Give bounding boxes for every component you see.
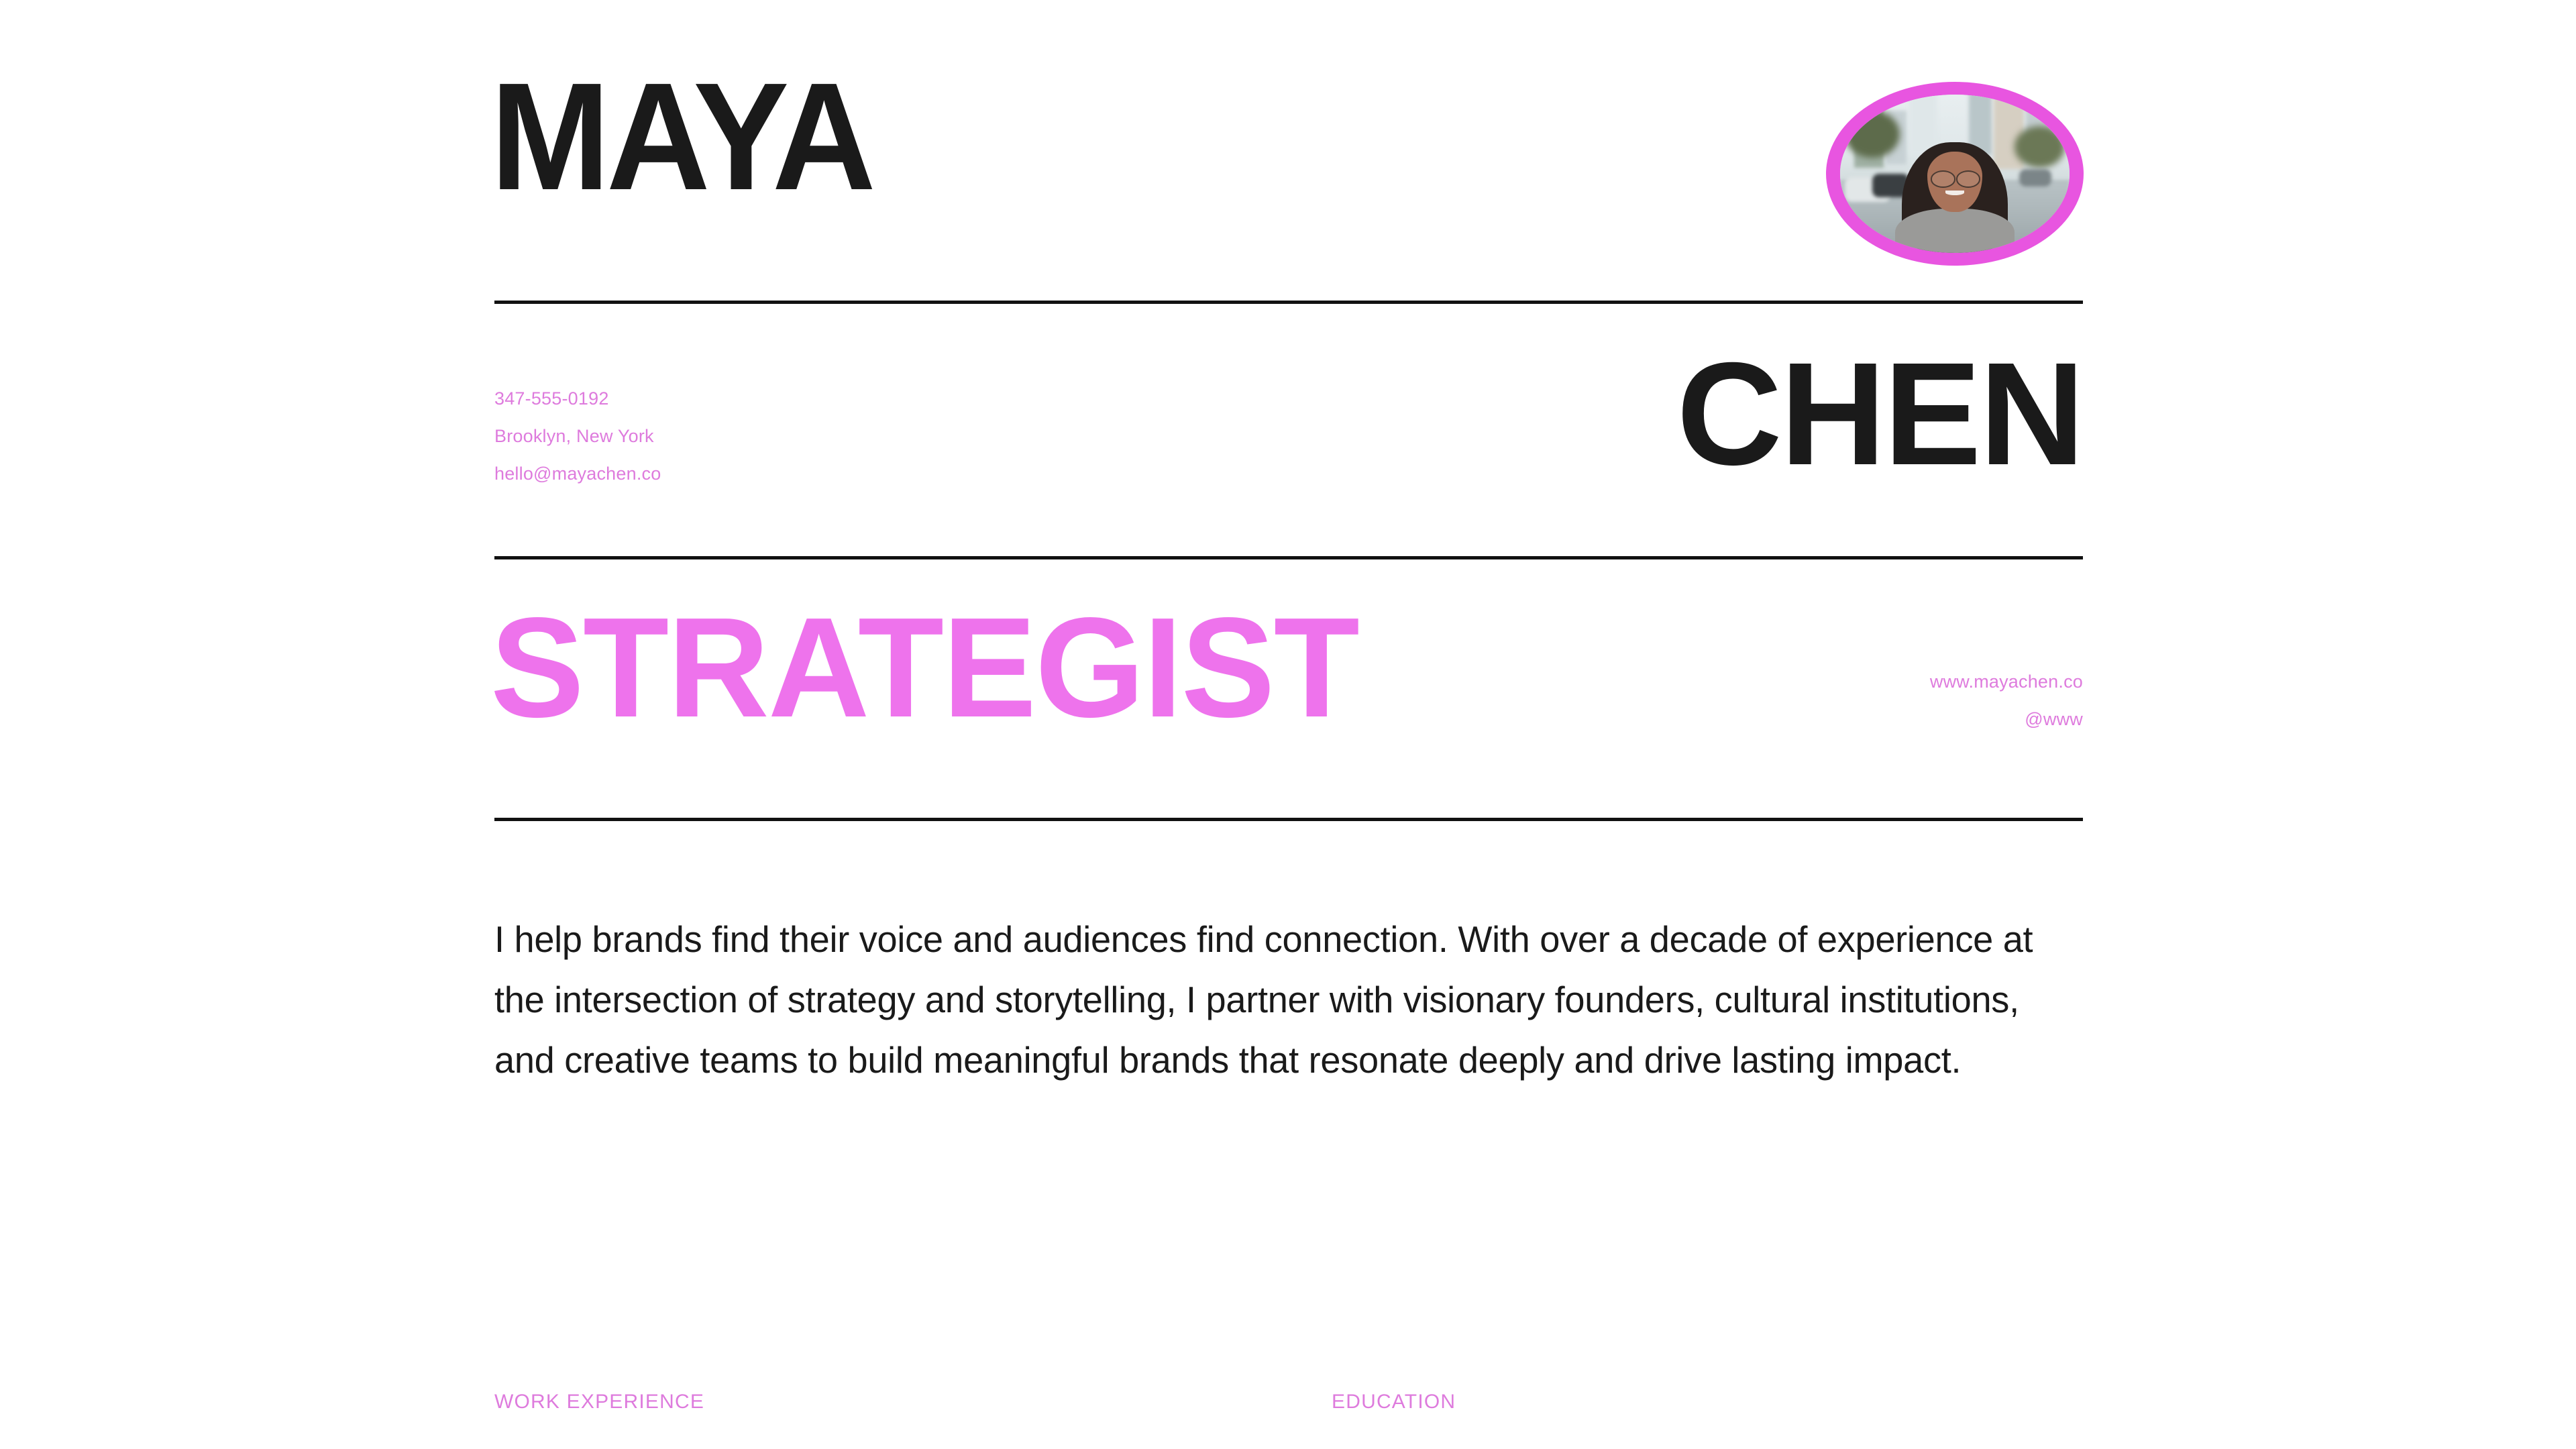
divider-bottom xyxy=(494,818,2083,821)
photo-tree xyxy=(2015,126,2065,167)
divider-top xyxy=(494,301,2083,304)
summary-paragraph: I help brands find their voice and audie… xyxy=(494,909,2074,1090)
glasses-icon xyxy=(1931,170,1955,187)
photo-car xyxy=(2019,169,2051,186)
section-header-education: EDUCATION xyxy=(1332,1391,1456,1413)
web-links-block: www.mayachen.co @www xyxy=(1930,663,2083,738)
link-website[interactable]: www.mayachen.co xyxy=(1930,663,2083,700)
glasses-icon xyxy=(1956,170,1980,187)
resume-page: MAYA 347-555-0192 Brookly xyxy=(0,0,2576,1449)
job-role-title: STRATEGIST xyxy=(490,605,1358,731)
photo-person-torso xyxy=(1895,209,2015,253)
page-title-first-name: MAYA xyxy=(490,71,872,203)
link-handle[interactable]: @www xyxy=(1930,700,2083,738)
section-header-work-experience: WORK EXPERIENCE xyxy=(494,1391,704,1413)
page-title-last-name: CHEN xyxy=(0,352,2083,477)
avatar-photo xyxy=(1840,95,2070,253)
photo-tree xyxy=(1845,111,1900,158)
divider-middle xyxy=(494,556,2083,559)
avatar xyxy=(1826,82,2084,266)
